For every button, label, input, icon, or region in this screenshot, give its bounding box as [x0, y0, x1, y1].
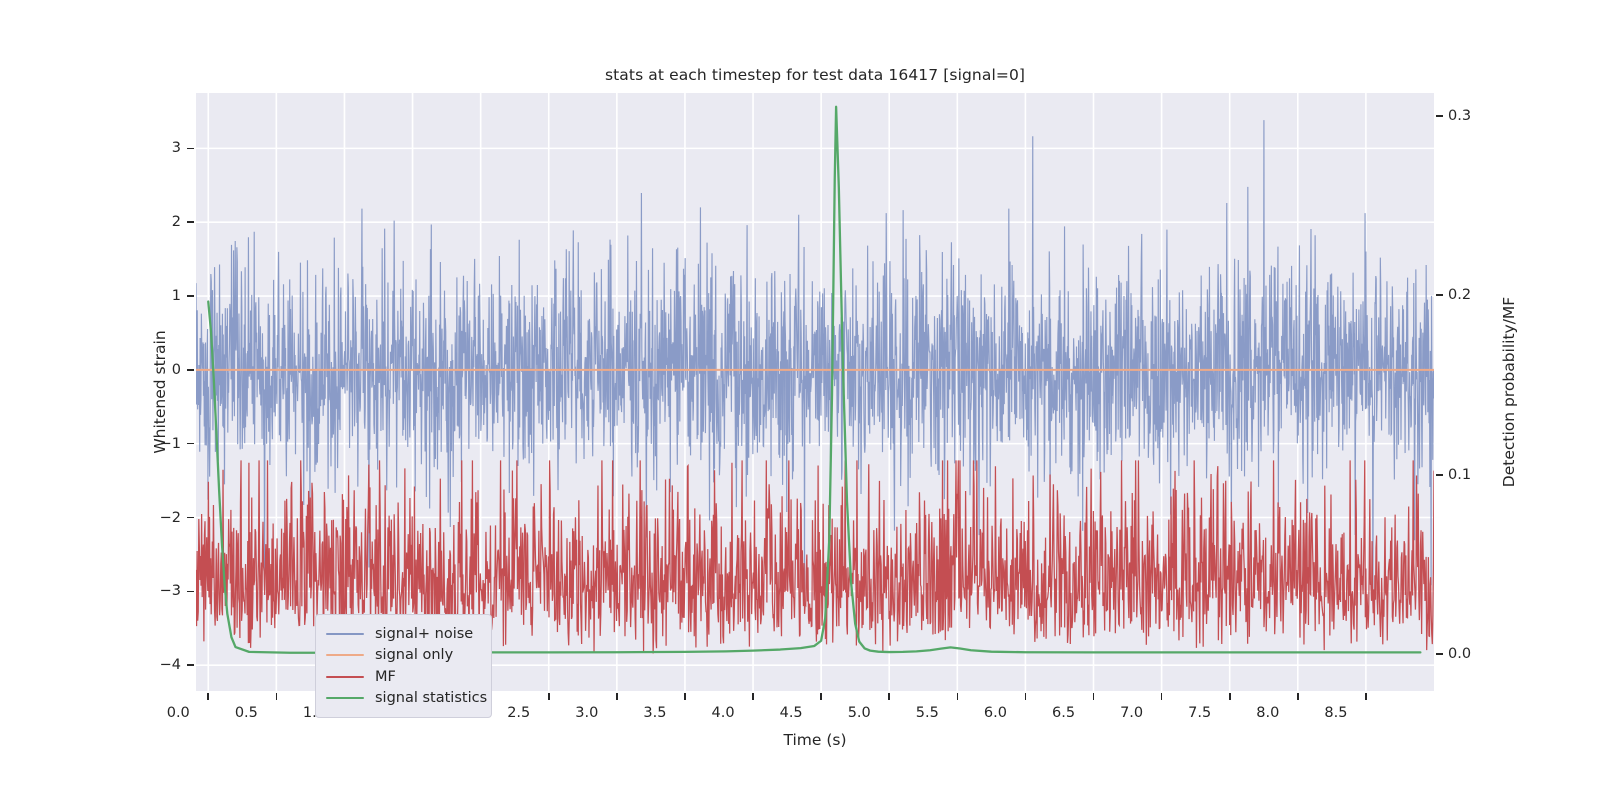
- legend-item[interactable]: signal+ noise: [326, 623, 479, 645]
- x-tick-label: 3.0: [557, 705, 617, 721]
- legend-label: signal only: [375, 647, 453, 663]
- x-tick-label: 5.0: [829, 705, 889, 721]
- legend-color-swatch: [326, 697, 364, 699]
- x-tick-label: 4.5: [761, 705, 821, 721]
- y-tick-label-left: 1: [126, 288, 181, 304]
- legend-item[interactable]: signal only: [326, 645, 479, 667]
- y-tick-mark-left: [187, 443, 194, 445]
- figure-canvas: stats at each timestep for test data 164…: [0, 0, 1600, 800]
- y-tick-label-right: 0.0: [1448, 646, 1508, 662]
- x-tick-mark: [957, 693, 959, 700]
- x-axis-label: Time (s): [196, 731, 1434, 749]
- chart-title: stats at each timestep for test data 164…: [196, 66, 1434, 84]
- y-tick-label-left: 3: [126, 140, 181, 156]
- x-tick-label: 8.5: [1306, 705, 1366, 721]
- y-tick-mark-left: [187, 517, 194, 519]
- y-tick-label-left: −2: [126, 510, 181, 526]
- y-tick-mark-right: [1436, 653, 1443, 655]
- y-tick-label-left: −3: [126, 583, 181, 599]
- y-tick-label-left: −4: [126, 657, 181, 673]
- x-tick-label: 8.0: [1238, 705, 1298, 721]
- y-tick-label-right: 0.2: [1448, 287, 1508, 303]
- x-tick-mark: [616, 693, 618, 700]
- x-tick-mark: [1365, 693, 1367, 700]
- x-tick-label: 4.0: [693, 705, 753, 721]
- x-tick-mark: [1229, 693, 1231, 700]
- legend-color-swatch: [326, 676, 364, 678]
- y-tick-mark-left: [187, 369, 194, 371]
- y-tick-mark-right: [1436, 474, 1443, 476]
- x-tick-mark: [888, 693, 890, 700]
- x-tick-mark: [1093, 693, 1095, 700]
- plot-area[interactable]: [196, 93, 1434, 691]
- x-tick-mark: [820, 693, 822, 700]
- y-axis-label-right: Detection probability/MF: [1500, 297, 1518, 487]
- y-tick-mark-right: [1436, 115, 1443, 117]
- x-tick-label: 6.5: [1034, 705, 1094, 721]
- x-tick-mark: [276, 693, 278, 700]
- legend-item[interactable]: MF: [326, 666, 479, 688]
- x-tick-mark: [548, 693, 550, 700]
- x-tick-label: 7.0: [1102, 705, 1162, 721]
- y-tick-label-right: 0.3: [1448, 108, 1508, 124]
- x-tick-mark: [684, 693, 686, 700]
- y-tick-label-right: 0.1: [1448, 467, 1508, 483]
- y-axis-label-left: Whitened strain: [151, 330, 169, 453]
- x-tick-label: 6.0: [965, 705, 1025, 721]
- legend-label: MF: [375, 669, 396, 685]
- y-tick-mark-left: [187, 295, 194, 297]
- legend-color-swatch: [326, 654, 364, 656]
- legend-item[interactable]: signal statistics: [326, 688, 479, 710]
- chart-legend[interactable]: signal+ noisesignal onlyMFsignal statist…: [315, 614, 492, 718]
- x-tick-label: 3.5: [625, 705, 685, 721]
- x-tick-mark: [1161, 693, 1163, 700]
- x-tick-label: 5.5: [897, 705, 957, 721]
- y-tick-mark-left: [187, 221, 194, 223]
- x-tick-label: 0.5: [216, 705, 276, 721]
- x-tick-mark: [1297, 693, 1299, 700]
- y-tick-mark-left: [187, 591, 194, 593]
- x-tick-label: 0.0: [148, 705, 208, 721]
- y-tick-mark-left: [187, 664, 194, 666]
- x-tick-mark: [752, 693, 754, 700]
- y-tick-label-left: 2: [126, 214, 181, 230]
- x-tick-mark: [1025, 693, 1027, 700]
- legend-color-swatch: [326, 633, 364, 635]
- plot-svg: [196, 93, 1434, 691]
- x-tick-label: 2.5: [489, 705, 549, 721]
- legend-label: signal+ noise: [375, 626, 473, 642]
- x-tick-mark: [207, 693, 209, 700]
- y-tick-mark-left: [187, 148, 194, 150]
- x-tick-label: 7.5: [1170, 705, 1230, 721]
- legend-label: signal statistics: [375, 690, 487, 706]
- y-tick-mark-right: [1436, 294, 1443, 296]
